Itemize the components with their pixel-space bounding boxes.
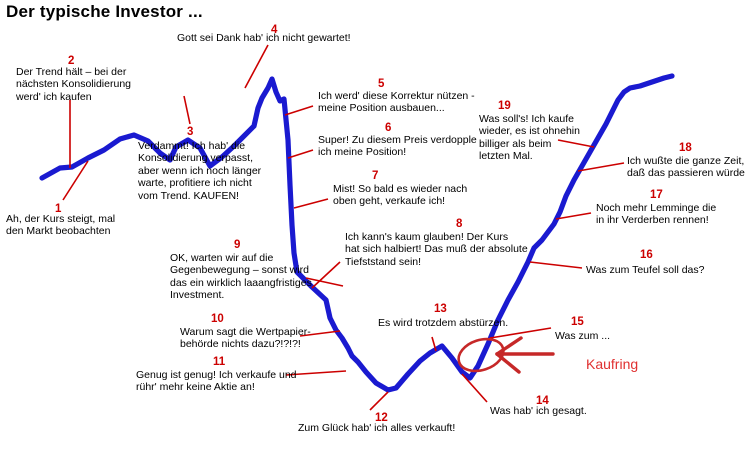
annotation-text-3: Verdammt! Ich hab' die Konsolidierung ve… [138, 140, 261, 202]
annotation-text-4: Gott sei Dank hab' ich nicht gewartet! [177, 32, 351, 44]
annotation-text-5: Ich werd' diese Korrektur nützen - meine… [318, 90, 475, 115]
annotation-text-7: Mist! So bald es wieder nach oben geht, … [333, 183, 467, 208]
leader-line-3 [184, 96, 190, 124]
annotation-number-19: 19 [498, 101, 511, 112]
annotation-text-1: Ah, der Kurs steigt, mal den Markt beoba… [6, 213, 115, 238]
leader-line-16 [530, 262, 582, 268]
leader-line-7 [294, 199, 328, 208]
annotation-number-18: 18 [679, 143, 692, 154]
annotation-text-11: Genug ist genug! Ich verkaufe und rühr' … [136, 369, 297, 394]
annotation-text-16: Was zum Teufel soll das? [586, 264, 704, 276]
annotation-number-11: 11 [213, 357, 225, 368]
annotation-text-8: Ich kann's kaum glauben! Der Kurs hat si… [345, 231, 528, 268]
annotation-number-15: 15 [571, 317, 584, 328]
investor-chart-illustration: Der typische Investor ... 1Ah, der Kurs … [0, 0, 745, 460]
kaufring-arrow-head-lower [497, 354, 519, 372]
annotation-text-2: Der Trend hält – bei der nächsten Konsol… [16, 66, 131, 103]
annotation-text-12: Zum Glück hab' ich alles verkauft! [298, 422, 455, 434]
annotation-number-7: 7 [372, 171, 378, 182]
annotation-text-17: Noch mehr Lemminge die in ihr Verderben … [596, 202, 716, 227]
annotation-number-6: 6 [385, 123, 391, 134]
leader-line-6 [288, 150, 313, 158]
leader-line-14 [462, 374, 487, 402]
annotation-text-6: Super! Zu diesem Preis verdopple ich mei… [318, 134, 477, 159]
leader-line-4 [245, 45, 268, 88]
annotation-number-8: 8 [456, 219, 462, 230]
leader-line-12 [370, 392, 388, 410]
leader-line-5 [285, 106, 313, 115]
annotation-text-13: Es wird trotzdem abstürzen. [378, 317, 508, 329]
annotation-number-13: 13 [434, 304, 447, 315]
annotation-number-9: 9 [234, 240, 240, 251]
annotation-number-17: 17 [650, 190, 663, 201]
annotation-text-9: OK, warten wir auf die Gegenbewegung – s… [170, 252, 312, 302]
kaufring-label: Kaufring [586, 356, 638, 372]
annotation-number-3: 3 [187, 127, 193, 138]
annotation-number-10: 10 [211, 314, 224, 325]
annotation-text-14: Was hab' ich gesagt. [490, 405, 587, 417]
annotation-number-5: 5 [378, 79, 384, 90]
annotation-text-18: Ich wußte die ganze Zeit, daß das passie… [627, 155, 745, 180]
annotation-text-19: Was soll's! Ich kaufe wieder, es ist ohn… [479, 113, 580, 163]
annotation-text-15: Was zum ... [555, 330, 610, 342]
annotation-text-10: Warum sagt die Wertpapier- behörde nicht… [180, 326, 311, 351]
annotation-number-16: 16 [640, 250, 653, 261]
